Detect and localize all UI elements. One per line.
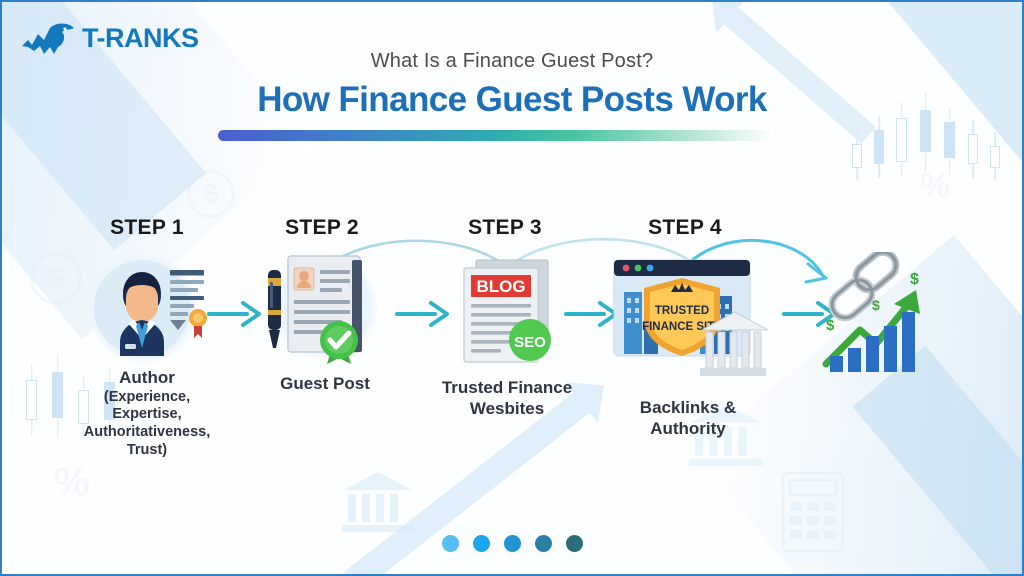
step-1-caption-line-3: Authoritativeness,	[50, 424, 244, 442]
bg-descending-arrow-icon	[718, 2, 876, 143]
step-4-caption-line-2: Authority	[650, 419, 726, 438]
dollar-sign-2: $	[872, 297, 880, 313]
step-label-1: STEP 1	[72, 216, 222, 240]
pagination-dot-5[interactable]	[566, 535, 583, 552]
blog-seo-article-icon: BLOG SEO	[454, 258, 560, 368]
infographic-canvas: $ $ $ % %	[0, 0, 1024, 576]
dollar-sign-3: $	[910, 271, 919, 288]
page-title: How Finance Guest Posts Work	[2, 80, 1022, 120]
step-arrow-icon	[395, 300, 451, 328]
step-3-caption-line-2: Wesbites	[470, 399, 544, 418]
bar-1	[830, 356, 843, 372]
dollar-sign-1: $	[826, 317, 835, 334]
step-label-2: STEP 2	[247, 216, 397, 240]
blog-badge-text: BLOG	[476, 277, 525, 296]
step-4-caption: Backlinks & Authority	[598, 398, 778, 439]
step-label-4: STEP 4	[610, 216, 760, 240]
pagination-dot-4[interactable]	[535, 535, 552, 552]
percent-watermark-icon: %	[920, 167, 950, 206]
document-pen-verified-icon	[264, 252, 386, 370]
step-2-caption-title: Guest Post	[280, 374, 370, 393]
step-arrow-icon	[207, 300, 263, 328]
pagination-dot-1[interactable]	[442, 535, 459, 552]
bar-3	[866, 336, 879, 372]
dollar-watermark-icon: $	[30, 252, 82, 304]
browser-trusted-site-bank-icon: TRUSTED FINANCE SITE	[610, 256, 770, 380]
shield-line-1: TRUSTED	[655, 305, 709, 317]
bar-4	[884, 326, 897, 372]
chain-link-growth-chart-icon: $ $ $	[820, 252, 940, 382]
step-2-caption: Guest Post	[240, 374, 410, 395]
bank-watermark-icon	[342, 470, 414, 532]
bar-5	[902, 312, 915, 372]
step-1-caption-title: Author	[119, 368, 175, 387]
step-1-caption-line-1: (Experience,	[50, 389, 244, 407]
bar-2	[848, 348, 861, 372]
dollar-watermark-icon: $	[187, 170, 235, 218]
step-3-caption: Trusted Finance Wesbites	[412, 378, 602, 419]
step-4-caption-line-1: Backlinks &	[640, 398, 736, 417]
subtitle: What Is a Finance Guest Post?	[2, 50, 1022, 73]
title-underline-bar	[218, 130, 774, 141]
step-1-caption-line-4: Trust)	[50, 442, 244, 460]
step-1-caption: Author (Experience, Expertise, Authorita…	[50, 368, 244, 459]
dollar-watermark-icon: $	[932, 382, 982, 432]
pagination-dots[interactable]	[2, 535, 1022, 552]
pagination-dot-2[interactable]	[473, 535, 490, 552]
pagination-dot-3[interactable]	[504, 535, 521, 552]
step-1-caption-line-2: Expertise,	[50, 406, 244, 424]
step-3-caption-line-1: Trusted Finance	[442, 378, 572, 397]
seo-badge-text: SEO	[514, 334, 546, 351]
percent-watermark-icon: %	[54, 460, 90, 505]
author-avatar-certificate-icon	[90, 252, 208, 364]
step-label-3: STEP 3	[430, 216, 580, 240]
brand-name: T-RANKS	[82, 23, 199, 54]
